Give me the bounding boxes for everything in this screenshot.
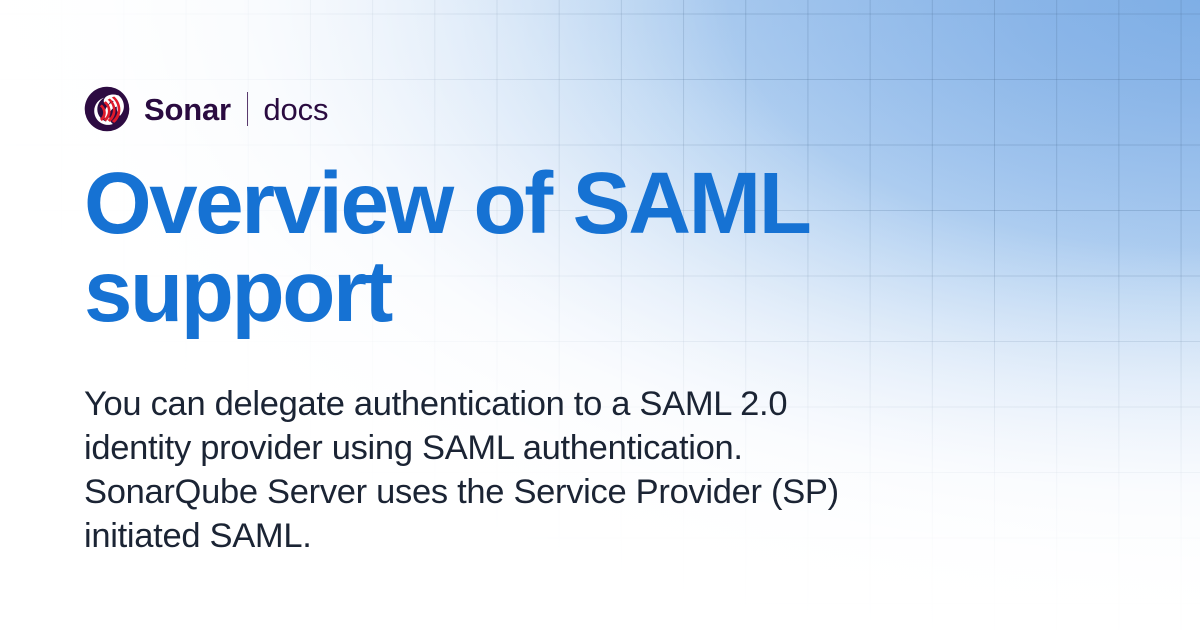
social-card: Sonar docs Overview of SAML support You … (0, 0, 1200, 630)
brand-name: Sonar (144, 94, 231, 125)
page-title: Overview of SAML support (84, 160, 964, 336)
sonar-logo-icon (84, 86, 130, 132)
page-description: You can delegate authentication to a SAM… (84, 382, 874, 558)
brand-product: docs (263, 94, 328, 125)
card-content: Sonar docs Overview of SAML support You … (84, 0, 1124, 630)
sonar-docs-logo[interactable]: Sonar docs (84, 86, 328, 132)
brand-separator (247, 92, 249, 126)
